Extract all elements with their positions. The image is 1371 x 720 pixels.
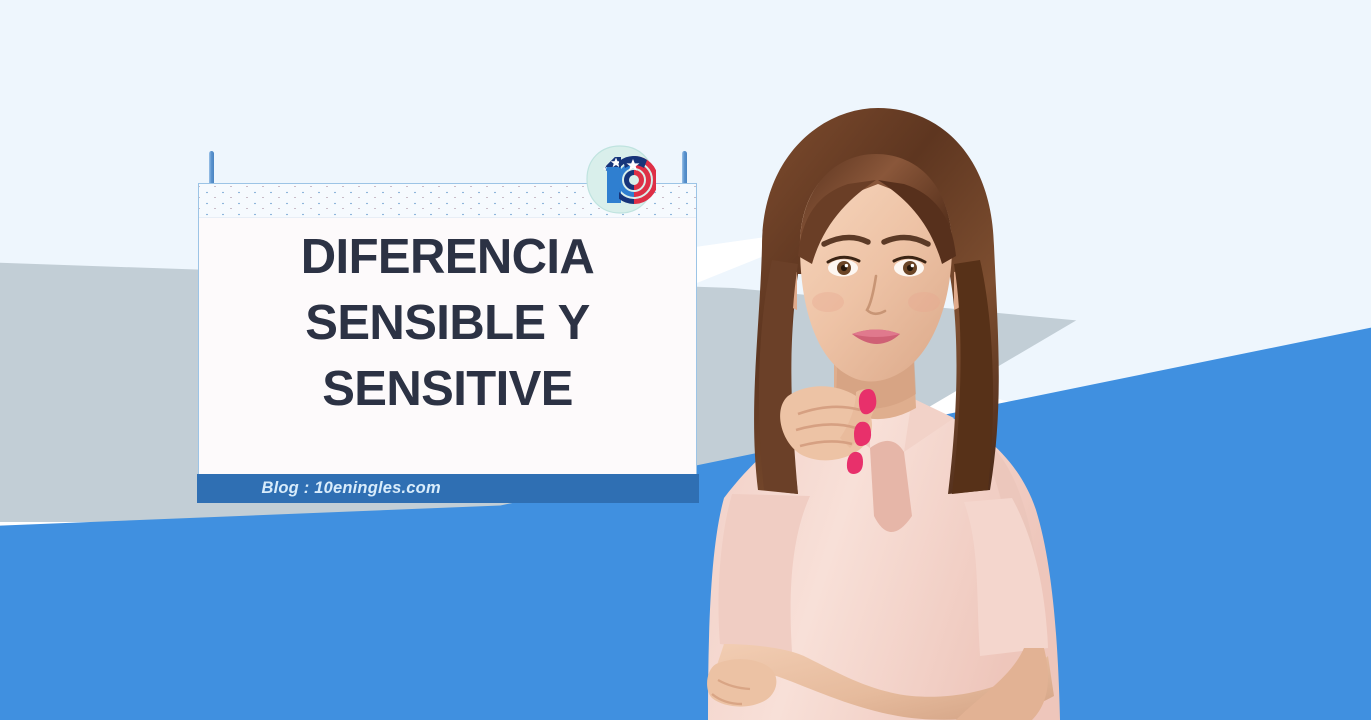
page-title: DIFERENCIA SENSIBLE Y SENSITIVE	[199, 224, 696, 422]
card-footer-bar: Blog : 10eningles.com	[197, 474, 699, 503]
title-line-2: SENSIBLE Y	[217, 290, 678, 356]
blog-url-label: Blog : 10eningles.com	[262, 479, 441, 498]
brand-10-icon	[583, 143, 657, 217]
title-line-3: SENSITIVE	[217, 356, 678, 422]
card-body: DIFERENCIA SENSIBLE Y SENSITIVE	[198, 183, 697, 502]
banner-canvas: DIFERENCIA SENSIBLE Y SENSITIVE Blog : 1…	[0, 0, 1371, 720]
title-card: DIFERENCIA SENSIBLE Y SENSITIVE Blog : 1…	[198, 183, 697, 502]
title-line-1: DIFERENCIA	[217, 224, 678, 290]
